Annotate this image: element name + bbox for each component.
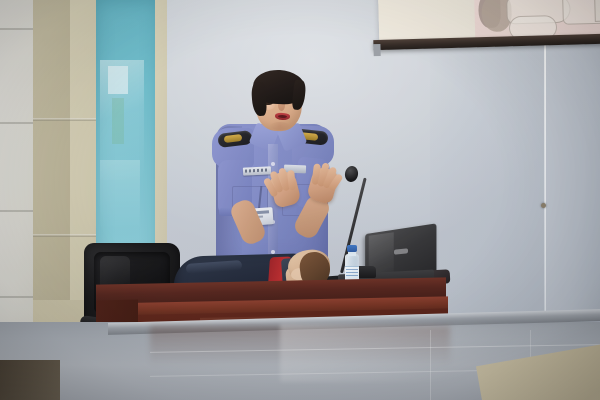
photo-scene	[0, 0, 600, 400]
water-bottle-label-text	[346, 269, 358, 276]
shirt-button	[271, 162, 275, 166]
water-bottle-cap[interactable]	[347, 245, 357, 252]
chin-shading	[270, 122, 290, 130]
presenter-hair-side-right	[291, 79, 306, 110]
foreground-dark-corner	[0, 360, 60, 400]
presenter-hair-side-left	[251, 82, 267, 117]
floor-tile-grout-line	[430, 330, 431, 400]
mouth-opening	[278, 115, 287, 118]
